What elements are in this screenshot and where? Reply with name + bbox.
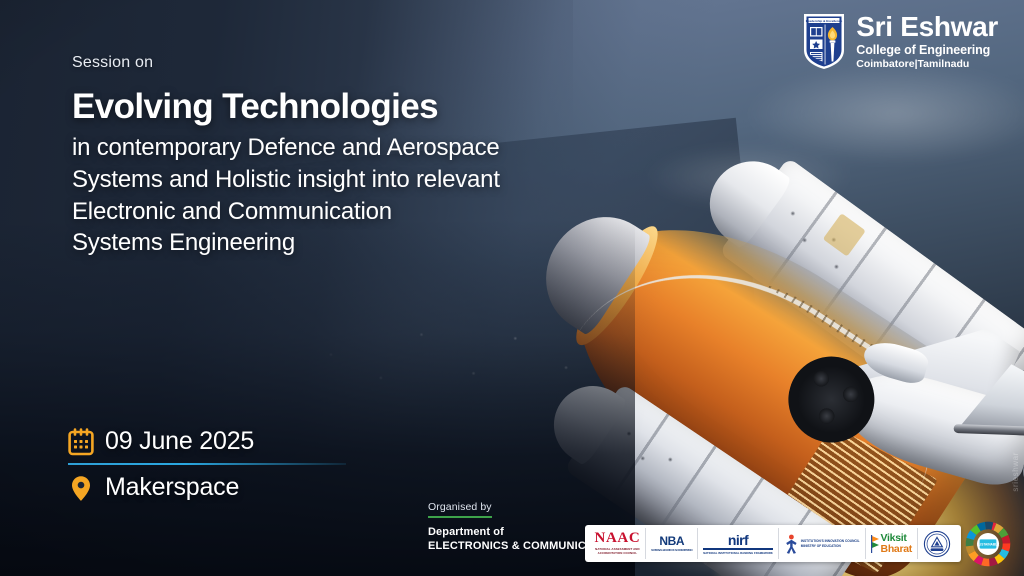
calendar-icon — [68, 428, 94, 456]
title-subtext: in contemporary Defence and Aerospace Sy… — [72, 132, 612, 260]
organised-by-label: Organised by — [428, 501, 492, 518]
college-name: Sri Eshwar — [856, 13, 998, 42]
page-title: Evolving Technologies — [72, 89, 612, 126]
session-kicker: Session on — [72, 54, 612, 72]
college-logo: Leadership & Excellence — [801, 12, 998, 70]
badge-iic: INSTITUTION'S INNOVATION COUNCIL MINISTR… — [779, 528, 866, 559]
naac-sub-2: ACCREDITATION COUNCIL — [598, 551, 638, 555]
event-date-row: 09 June 2025 — [68, 427, 368, 456]
iic-sub: MINISTRY OF EDUCATION — [801, 544, 860, 549]
viksit-bharat-flag-icon — [871, 535, 880, 553]
crest-book-icon — [810, 27, 823, 37]
meta-divider — [68, 463, 346, 465]
nirf-sub: NATIONAL INSTITUTIONAL RANKING FRAMEWORK — [703, 552, 773, 555]
iic-figure-icon — [784, 534, 799, 554]
title-subtext-line-2: Systems and Holistic insight into releva… — [72, 164, 612, 196]
naac-title: NAAC — [595, 530, 641, 546]
headline-block: Session on Evolving Technologies in cont… — [72, 54, 612, 259]
event-details: 09 June 2025 Makerspace — [68, 427, 368, 502]
accreditation-badges: NAAC NATIONAL ASSESSMENT AND ACCREDITATI… — [585, 525, 1011, 562]
title-subtext-line-1: in contemporary Defence and Aerospace — [72, 132, 612, 164]
badge-naac: NAAC NATIONAL ASSESSMENT AND ACCREDITATI… — [590, 528, 647, 559]
badge-nirf: nirf NATIONAL INSTITUTIONAL RANKING FRAM… — [698, 528, 779, 559]
poster-content: Leadership & Excellence — [0, 0, 1024, 576]
nirf-rule — [703, 548, 773, 550]
title-subtext-line-4: Systems Engineering — [72, 227, 612, 259]
college-logo-text: Sri Eshwar College of Engineering Coimba… — [856, 13, 998, 70]
image-watermark: srieshwar — [1011, 452, 1020, 492]
nirf-title: nirf — [703, 533, 773, 547]
sdg-center-label: SUSTAINABLE — [977, 542, 999, 546]
badge-nba: NBA NATIONAL BOARD OF ACCREDITATION — [646, 528, 698, 559]
location-pin-icon — [68, 474, 94, 502]
event-venue-row: Makerspace — [68, 473, 368, 502]
nba-sub: NATIONAL BOARD OF ACCREDITATION — [651, 549, 692, 552]
sdg-wheel-icon: SUSTAINABLE — [965, 521, 1011, 567]
event-poster: Leadership & Excellence — [0, 0, 1024, 576]
crest-motto-text: Leadership & Excellence — [806, 19, 843, 23]
title-subtext-line-3: Electronic and Communication — [72, 196, 612, 228]
badge-institution-seal — [918, 528, 956, 559]
badge-viksit-bharat: Viksit Bharat — [866, 528, 918, 559]
nba-title: NBA — [659, 534, 684, 548]
iic-title: INSTITUTION'S INNOVATION COUNCIL — [801, 539, 860, 544]
viksit-text: Viksit — [881, 533, 912, 544]
institution-seal-icon — [923, 530, 951, 558]
bharat-text: Bharat — [881, 544, 912, 555]
college-crest-icon: Leadership & Excellence — [801, 12, 847, 70]
badge-strip: NAAC NATIONAL ASSESSMENT AND ACCREDITATI… — [585, 525, 961, 562]
event-venue: Makerspace — [105, 473, 239, 502]
crest-star-icon — [810, 40, 823, 50]
college-subtitle: College of Engineering — [856, 44, 998, 57]
college-location: Coimbatore|Tamilnadu — [856, 59, 998, 70]
event-date: 09 June 2025 — [105, 427, 254, 456]
